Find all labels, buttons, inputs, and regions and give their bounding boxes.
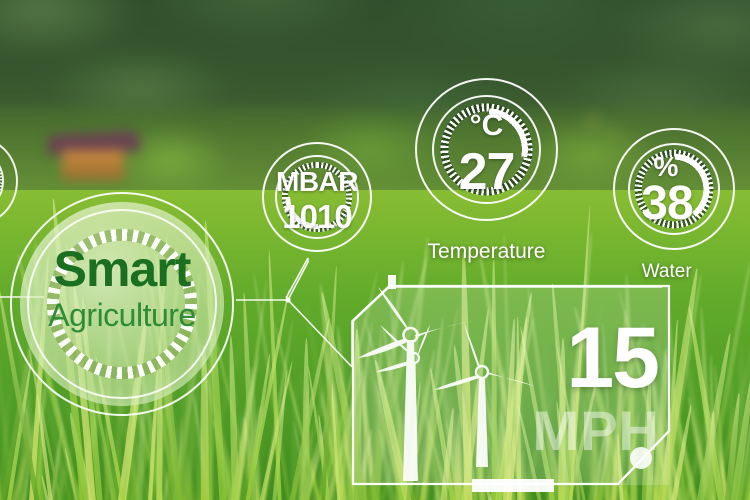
wind-panel-bottom-bar bbox=[472, 479, 554, 492]
gauge-pressure[interactable]: MBAR 1010 bbox=[262, 142, 372, 252]
gauge-temperature[interactable]: °C 27 Temperature bbox=[415, 78, 558, 221]
wind-speed-value: 15 bbox=[566, 315, 658, 401]
hud-overlay: Smart Agriculture MBAR 1010 °C 27 Temper… bbox=[0, 0, 750, 500]
wind-panel-indicator-dot[interactable] bbox=[630, 447, 652, 469]
wind-speed-panel[interactable]: 15 MPH bbox=[352, 285, 670, 485]
temperature-value: 27 bbox=[415, 146, 558, 198]
brand-line-1: Smart bbox=[10, 244, 234, 294]
water-label: Water bbox=[642, 261, 692, 283]
brand-circle[interactable]: Smart Agriculture bbox=[10, 192, 234, 416]
connector-node bbox=[285, 297, 290, 302]
pressure-unit: MBAR bbox=[262, 168, 372, 196]
gauge-water[interactable]: % 38 Water bbox=[613, 128, 735, 250]
pressure-value: 1010 bbox=[262, 200, 372, 233]
wind-panel-top-notch bbox=[388, 275, 396, 289]
brand-line-2: Agriculture bbox=[10, 294, 234, 337]
temperature-unit: °C bbox=[415, 111, 558, 141]
temperature-label: Temperature bbox=[428, 240, 546, 264]
turbine-right bbox=[434, 323, 534, 467]
dashboard-stage: Smart Agriculture MBAR 1010 °C 27 Temper… bbox=[0, 0, 750, 500]
brand-text: Smart Agriculture bbox=[10, 244, 234, 337]
water-value: 38 bbox=[599, 180, 735, 228]
turbine-left bbox=[376, 325, 430, 453]
